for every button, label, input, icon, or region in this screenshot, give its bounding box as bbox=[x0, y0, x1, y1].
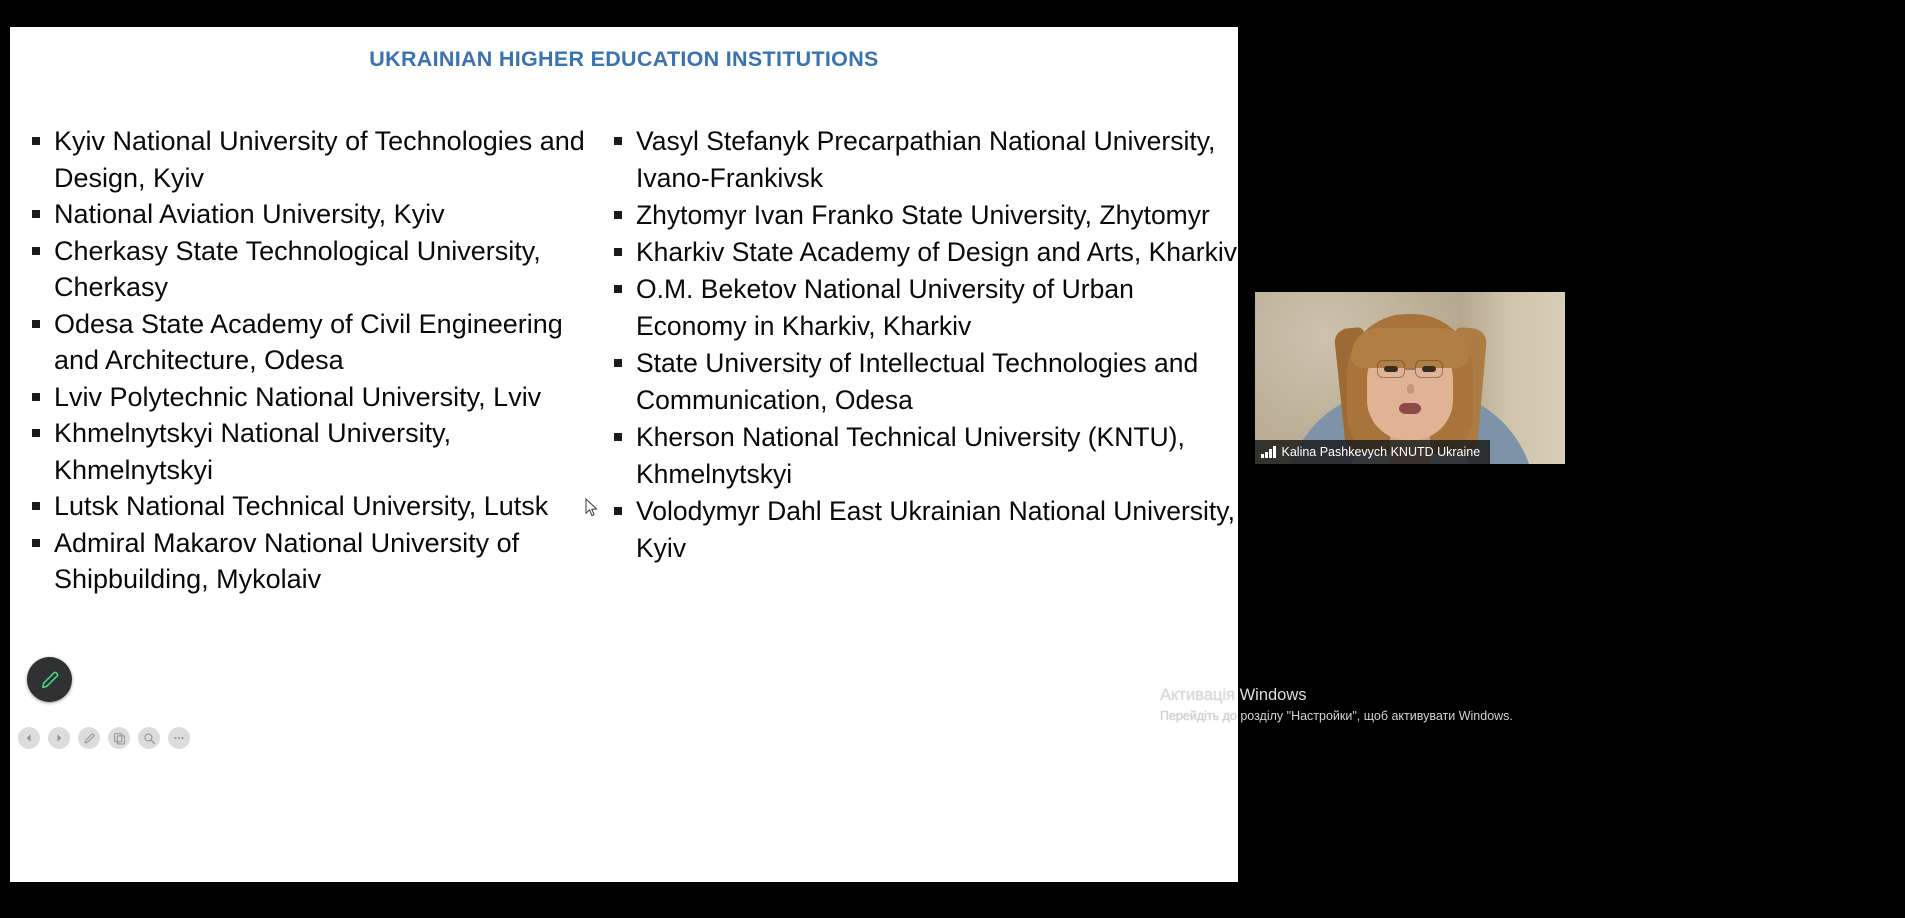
square-bullet-icon bbox=[32, 210, 40, 218]
previous-arrow-icon bbox=[23, 732, 35, 744]
list-item: Zhytomyr Ivan Franko State University, Z… bbox=[606, 197, 1238, 234]
watermark-line-2: Перейдіть до розділу "Настройки", щоб ак… bbox=[1160, 709, 1680, 723]
square-bullet-icon bbox=[32, 137, 40, 145]
participant-video-thumbnail[interactable]: Kalina Pashkevych KNUTD Ukraine bbox=[1255, 292, 1565, 464]
list-item-label: Zhytomyr Ivan Franko State University, Z… bbox=[636, 200, 1210, 230]
list-item: Khmelnytskyi National University, Khmeln… bbox=[24, 415, 606, 488]
list-item-label: State University of Intellectual Technol… bbox=[636, 348, 1198, 415]
watermark-line-1: Активація Windows bbox=[1160, 686, 1680, 705]
square-bullet-icon bbox=[614, 507, 622, 515]
list-item-label: National Aviation University, Kyiv bbox=[54, 199, 445, 229]
pen-annotate-icon bbox=[83, 732, 96, 745]
list-item-label: Vasyl Stefanyk Precarpathian National Un… bbox=[636, 126, 1215, 193]
screen-share-view: UKRAINIAN HIGHER EDUCATION INSTITUTIONS … bbox=[0, 0, 1905, 918]
list-item: Cherkasy State Technological University,… bbox=[24, 233, 606, 306]
list-item: Kherson National Technical University (K… bbox=[606, 419, 1238, 493]
shared-presentation-slide[interactable]: UKRAINIAN HIGHER EDUCATION INSTITUTIONS … bbox=[10, 27, 1238, 882]
square-bullet-icon bbox=[32, 539, 40, 547]
annotation-toolbar[interactable] bbox=[18, 727, 190, 749]
list-item: Admiral Makarov National University of S… bbox=[24, 525, 606, 598]
letterbox-left bbox=[0, 0, 10, 918]
participant-name-badge: Kalina Pashkevych KNUTD Ukraine bbox=[1255, 440, 1490, 464]
list-item-label: Admiral Makarov National University of S… bbox=[54, 528, 519, 595]
list-item-label: Kyiv National University of Technologies… bbox=[54, 126, 585, 193]
list-item: O.M. Beketov National University of Urba… bbox=[606, 271, 1238, 345]
magnifier-button[interactable] bbox=[138, 727, 160, 749]
list-item-label: Lviv Polytechnic National University, Lv… bbox=[54, 382, 541, 412]
square-bullet-icon bbox=[32, 502, 40, 510]
more-options-icon bbox=[172, 731, 186, 745]
previous-arrow-button[interactable] bbox=[18, 727, 40, 749]
list-item-label: Volodymyr Dahl East Ukrainian National U… bbox=[636, 496, 1235, 563]
participant-bangs bbox=[1351, 328, 1469, 368]
participant-mouth bbox=[1399, 403, 1421, 414]
list-item: State University of Intellectual Technol… bbox=[606, 345, 1238, 419]
square-bullet-icon bbox=[614, 211, 622, 219]
list-item-label: Lutsk National Technical University, Lut… bbox=[54, 491, 548, 521]
list-item: Volodymyr Dahl East Ukrainian National U… bbox=[606, 493, 1238, 567]
participant-eye-left bbox=[1384, 366, 1398, 372]
windows-activation-watermark: Активація Windows Перейдіть до розділу "… bbox=[1160, 686, 1680, 723]
square-bullet-icon bbox=[614, 137, 622, 145]
square-bullet-icon bbox=[32, 429, 40, 437]
slide-body: Kyiv National University of Technologies… bbox=[10, 123, 1238, 723]
eyeglass-bridge bbox=[1405, 368, 1415, 370]
next-arrow-icon bbox=[53, 732, 65, 744]
square-bullet-icon bbox=[32, 393, 40, 401]
square-bullet-icon bbox=[614, 359, 622, 367]
right-column-list: Vasyl Stefanyk Precarpathian National Un… bbox=[606, 123, 1238, 567]
participant-eye-right bbox=[1422, 366, 1436, 372]
copy-button[interactable] bbox=[108, 727, 130, 749]
right-column: Vasyl Stefanyk Precarpathian National Un… bbox=[606, 123, 1238, 723]
letterbox-top bbox=[0, 0, 1905, 27]
list-item-label: Odesa State Academy of Civil Engineering… bbox=[54, 309, 563, 376]
list-item: Kyiv National University of Technologies… bbox=[24, 123, 606, 196]
copy-icon bbox=[113, 732, 126, 745]
square-bullet-icon bbox=[614, 248, 622, 256]
letterbox-bottom bbox=[0, 900, 1905, 918]
more-options-button[interactable] bbox=[168, 727, 190, 749]
pen-icon bbox=[39, 669, 61, 691]
list-item-label: O.M. Beketov National University of Urba… bbox=[636, 274, 1134, 341]
annotate-pen-button[interactable] bbox=[27, 657, 72, 702]
list-item: Lviv Polytechnic National University, Lv… bbox=[24, 379, 606, 416]
signal-bars-icon bbox=[1261, 446, 1276, 458]
square-bullet-icon bbox=[614, 433, 622, 441]
list-item-label: Khmelnytskyi National University, Khmeln… bbox=[54, 418, 451, 485]
square-bullet-icon bbox=[614, 285, 622, 293]
list-item: National Aviation University, Kyiv bbox=[24, 196, 606, 233]
list-item: Kharkiv State Academy of Design and Arts… bbox=[606, 234, 1238, 271]
pen-annotate-button[interactable] bbox=[78, 727, 100, 749]
square-bullet-icon bbox=[32, 247, 40, 255]
participant-nose bbox=[1407, 384, 1414, 394]
left-column-list: Kyiv National University of Technologies… bbox=[24, 123, 606, 598]
list-item-label: Kharkiv State Academy of Design and Arts… bbox=[636, 237, 1237, 267]
list-item-label: Cherkasy State Technological University,… bbox=[54, 236, 541, 303]
next-arrow-button[interactable] bbox=[48, 727, 70, 749]
list-item-label: Kherson National Technical University (K… bbox=[636, 422, 1185, 489]
participant-name-label: Kalina Pashkevych KNUTD Ukraine bbox=[1282, 445, 1481, 459]
square-bullet-icon bbox=[32, 320, 40, 328]
list-item: Lutsk National Technical University, Lut… bbox=[24, 488, 606, 525]
mouse-pointer-icon bbox=[585, 498, 599, 518]
list-item: Vasyl Stefanyk Precarpathian National Un… bbox=[606, 123, 1238, 197]
slide-title: UKRAINIAN HIGHER EDUCATION INSTITUTIONS bbox=[10, 47, 1238, 72]
list-item: Odesa State Academy of Civil Engineering… bbox=[24, 306, 606, 379]
left-column: Kyiv National University of Technologies… bbox=[10, 123, 606, 723]
magnifier-icon bbox=[143, 732, 156, 745]
